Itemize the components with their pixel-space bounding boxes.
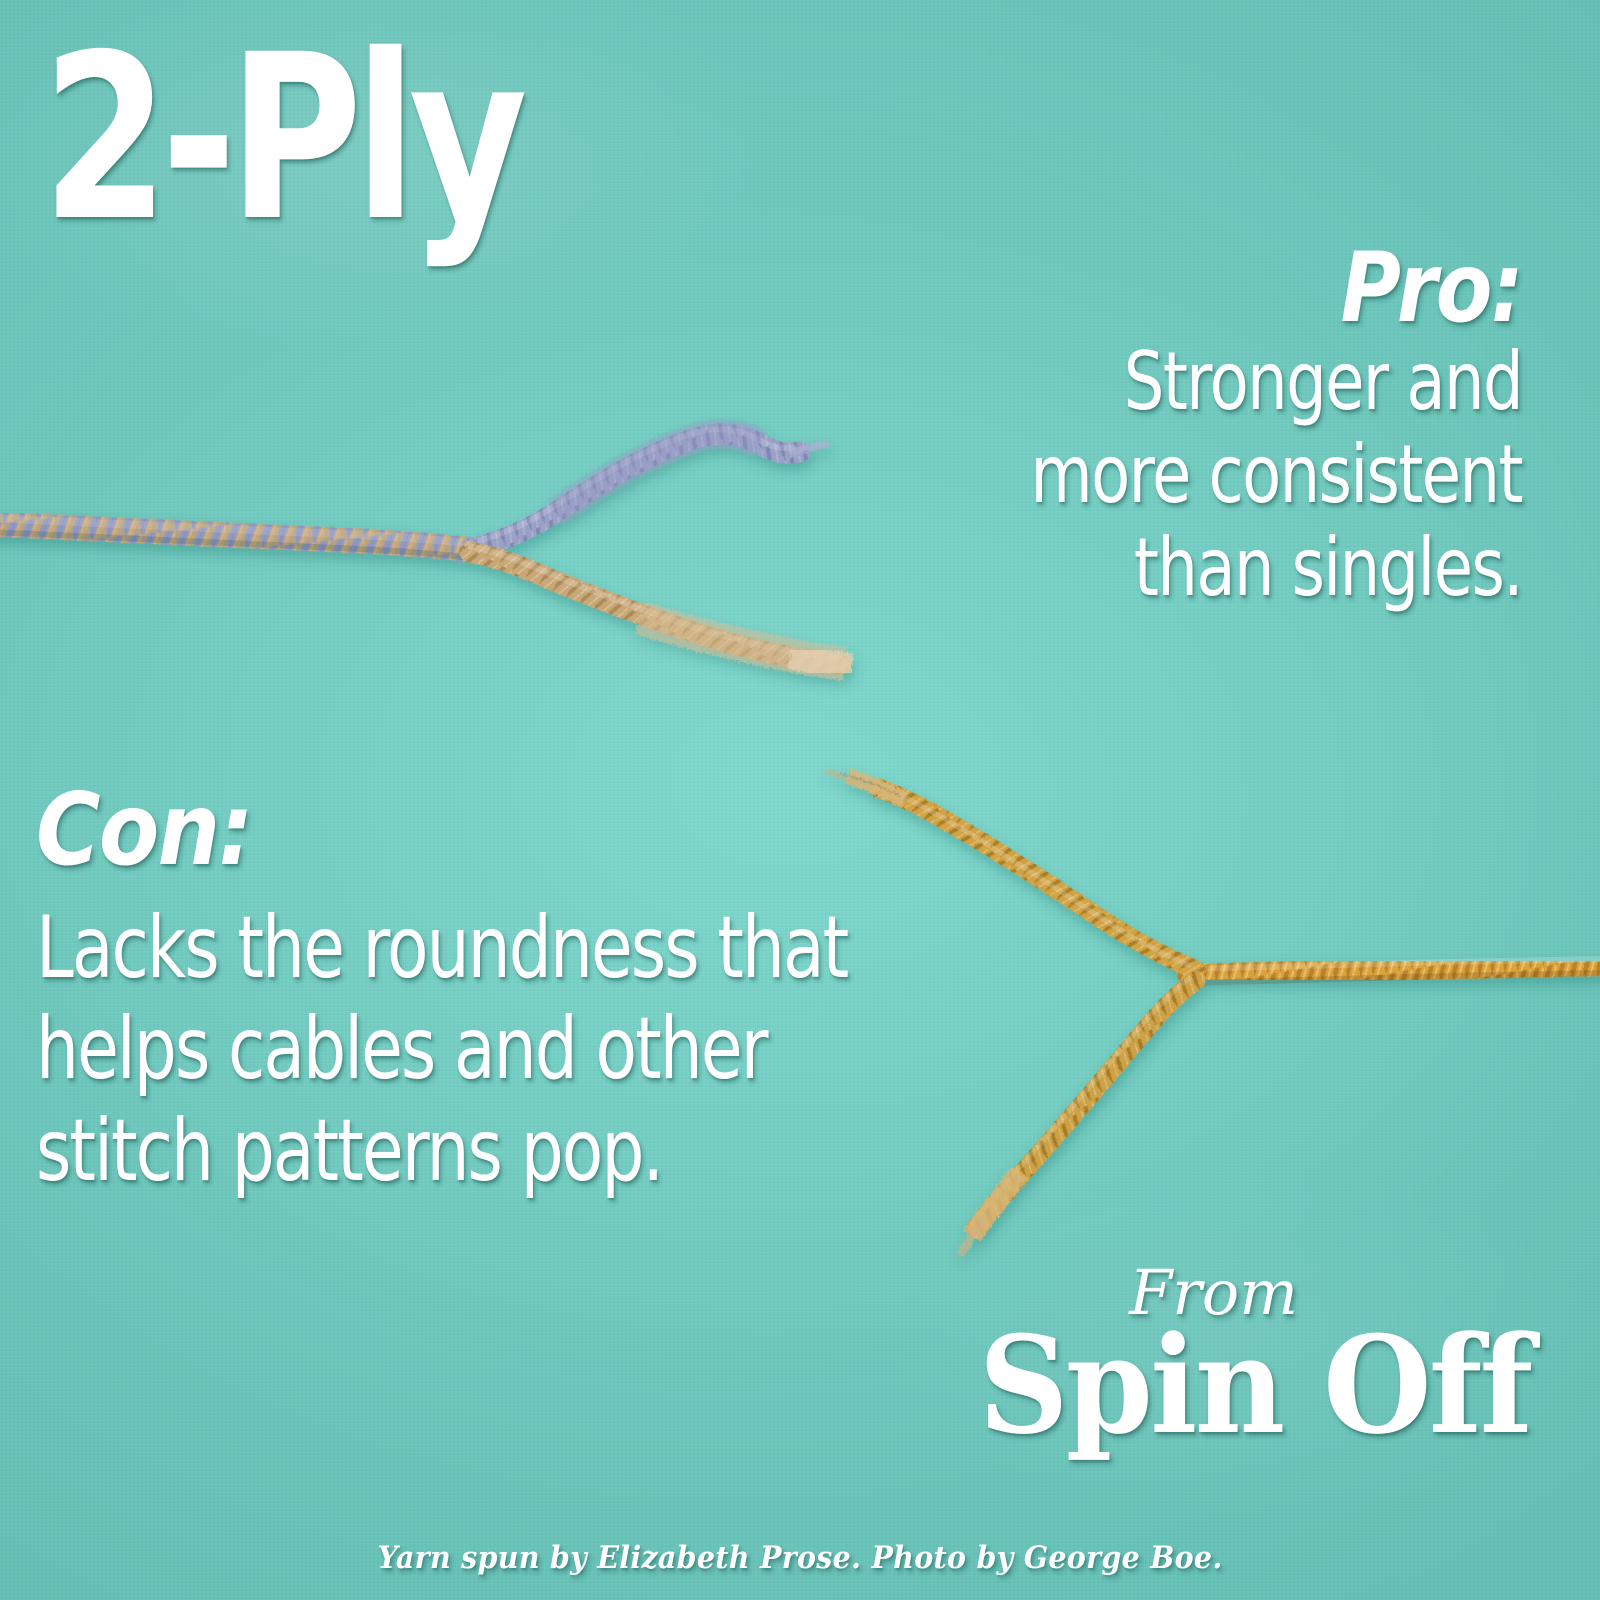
pro-line-3: than singles. <box>914 522 1522 615</box>
pro-line-2: more consistent <box>914 429 1522 522</box>
brand-name: Spin Off <box>978 1318 1530 1452</box>
con-line-1: Lacks the roundness that <box>36 898 826 999</box>
page-title: 2-Ply <box>42 22 520 255</box>
con-block: Con: Lacks the roundness that helps cabl… <box>36 780 1036 1202</box>
text-overlay: 2-Ply Pro: Stronger and more consistent … <box>0 0 1600 1600</box>
poster-canvas: 2-Ply Pro: Stronger and more consistent … <box>0 0 1600 1600</box>
con-line-2: helps cables and other <box>36 999 826 1100</box>
pro-label: Pro: <box>868 240 1522 336</box>
brand-lockup: From Spin Off <box>937 1262 1530 1452</box>
pro-line-1: Stronger and <box>914 336 1522 429</box>
pro-block: Pro: Stronger and more consistent than s… <box>762 240 1522 614</box>
photo-credit: Yarn spun by Elizabeth Prose. Photo by G… <box>64 1540 1536 1576</box>
con-line-3: stitch patterns pop. <box>36 1101 826 1202</box>
con-label: Con: <box>36 780 916 880</box>
